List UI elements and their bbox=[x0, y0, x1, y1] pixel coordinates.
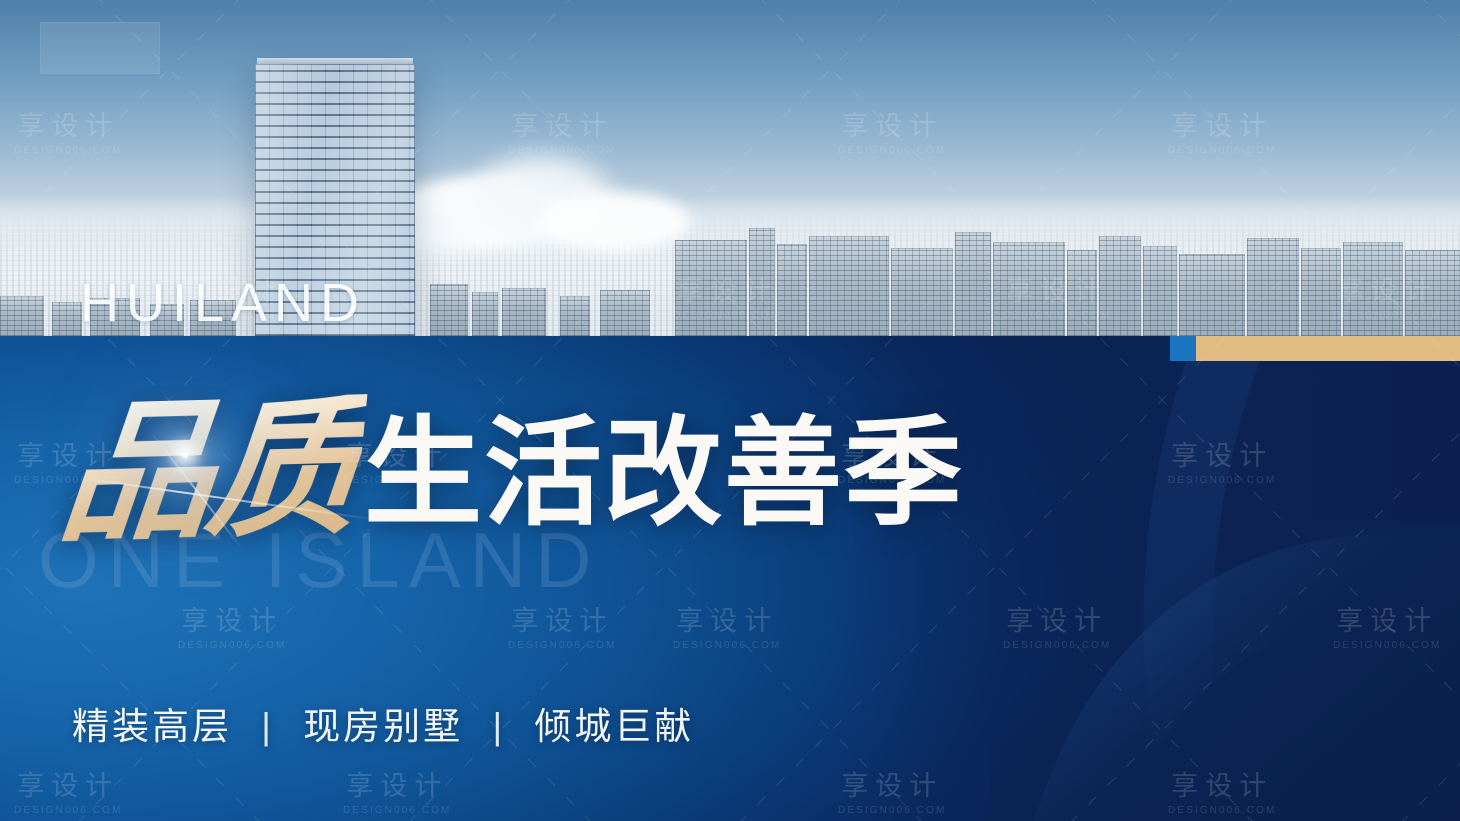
skyline-tower bbox=[0, 296, 44, 336]
skyline-tower bbox=[993, 242, 1065, 336]
skyline-tower bbox=[1067, 250, 1097, 336]
skyline-tower bbox=[675, 240, 747, 336]
hero-photo: HUILAND bbox=[0, 0, 1460, 336]
skyline-tower bbox=[1301, 248, 1341, 336]
skyline-tower bbox=[430, 284, 468, 336]
logo-placeholder-box bbox=[40, 22, 160, 74]
tagline-separator-1: | bbox=[245, 706, 290, 748]
skyline-tower bbox=[560, 296, 590, 336]
accent-gold-bar bbox=[1196, 336, 1460, 361]
skyline-tower bbox=[777, 244, 807, 336]
accent-blue-square bbox=[1170, 336, 1196, 361]
tagline-item-3: 倾城巨献 bbox=[534, 706, 694, 747]
skyline-tower bbox=[600, 290, 650, 336]
skyline-tower bbox=[502, 288, 546, 336]
skyline-tower bbox=[955, 232, 991, 336]
skyline-tower bbox=[1247, 238, 1299, 336]
tagline-separator-2: | bbox=[476, 706, 521, 748]
tagline: 精装高层 | 现房别墅 | 倾城巨献 bbox=[72, 696, 694, 750]
skyline-tower bbox=[1179, 254, 1245, 336]
poster-canvas: HUILAND ONE ISLAND 品质 生活改善季 精装高层 | 现房别墅 … bbox=[0, 0, 1460, 821]
skyline-tower bbox=[472, 292, 498, 336]
skyline-tower bbox=[1405, 250, 1460, 336]
skyline-tower bbox=[52, 302, 82, 336]
skyline-tower bbox=[1343, 242, 1403, 336]
skyline-tower bbox=[891, 248, 953, 336]
skyline-tower bbox=[809, 236, 889, 336]
skyline-tower bbox=[1143, 246, 1177, 336]
headline-serif: 生活改善季 bbox=[364, 414, 964, 532]
tagline-item-2: 现房别墅 bbox=[303, 706, 463, 747]
skyline-tower bbox=[1099, 236, 1141, 336]
headline: 品质 生活改善季 bbox=[62, 398, 964, 542]
skyline-tower bbox=[749, 228, 775, 336]
decor-corner-wedge bbox=[990, 521, 1460, 821]
brand-wordmark: HUILAND bbox=[80, 276, 366, 330]
headline-calligraphic: 品质 bbox=[55, 394, 368, 546]
tagline-item-1: 精装高层 bbox=[72, 706, 232, 747]
